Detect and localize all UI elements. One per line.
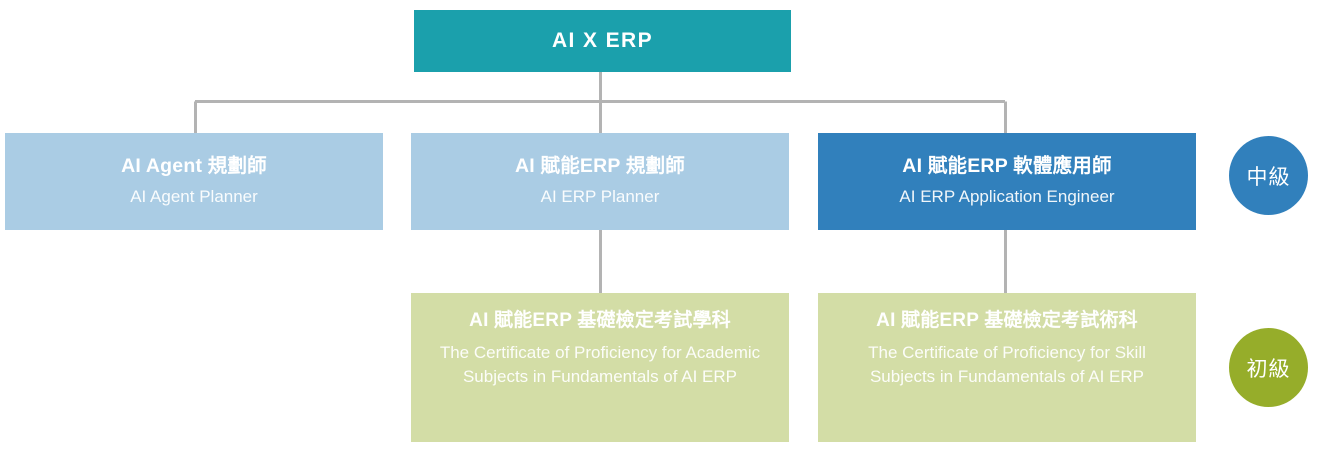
- node-title-zh: AI 賦能ERP 基礎檢定考試學科: [469, 309, 731, 333]
- org-chart-diagram: AI X ERP AI Agent 規劃師 AI Agent Planner A…: [0, 0, 1321, 451]
- node-title-en: AI Agent Planner: [130, 185, 258, 209]
- level-badge-intermediate: 中級: [1229, 136, 1308, 215]
- node-title-zh: AI 賦能ERP 規劃師: [515, 154, 685, 178]
- node-title-en: AI ERP Application Engineer: [899, 185, 1114, 209]
- node-title-zh: AI 賦能ERP 軟體應用師: [902, 154, 1111, 178]
- node-title-en: The Certificate of Proficiency for Skill…: [842, 341, 1172, 389]
- node-root-title: AI X ERP: [552, 28, 653, 54]
- level-badge-label: 初級: [1247, 353, 1291, 383]
- node-academic-subjects-certificate[interactable]: AI 賦能ERP 基礎檢定考試學科 The Certificate of Pro…: [411, 293, 789, 442]
- node-title-en: AI ERP Planner: [541, 185, 660, 209]
- node-title-zh: AI Agent 規劃師: [121, 154, 267, 178]
- node-root-ai-x-erp[interactable]: AI X ERP: [414, 10, 791, 72]
- node-skill-subjects-certificate[interactable]: AI 賦能ERP 基礎檢定考試術科 The Certificate of Pro…: [818, 293, 1196, 442]
- node-title-en: The Certificate of Proficiency for Acade…: [435, 341, 765, 389]
- level-badge-beginner: 初級: [1229, 328, 1308, 407]
- node-title-zh: AI 賦能ERP 基礎檢定考試術科: [876, 309, 1138, 333]
- level-badge-label: 中級: [1247, 161, 1291, 191]
- node-ai-erp-application-engineer[interactable]: AI 賦能ERP 軟體應用師 AI ERP Application Engine…: [818, 133, 1196, 230]
- node-ai-agent-planner[interactable]: AI Agent 規劃師 AI Agent Planner: [5, 133, 383, 230]
- node-ai-erp-planner[interactable]: AI 賦能ERP 規劃師 AI ERP Planner: [411, 133, 789, 230]
